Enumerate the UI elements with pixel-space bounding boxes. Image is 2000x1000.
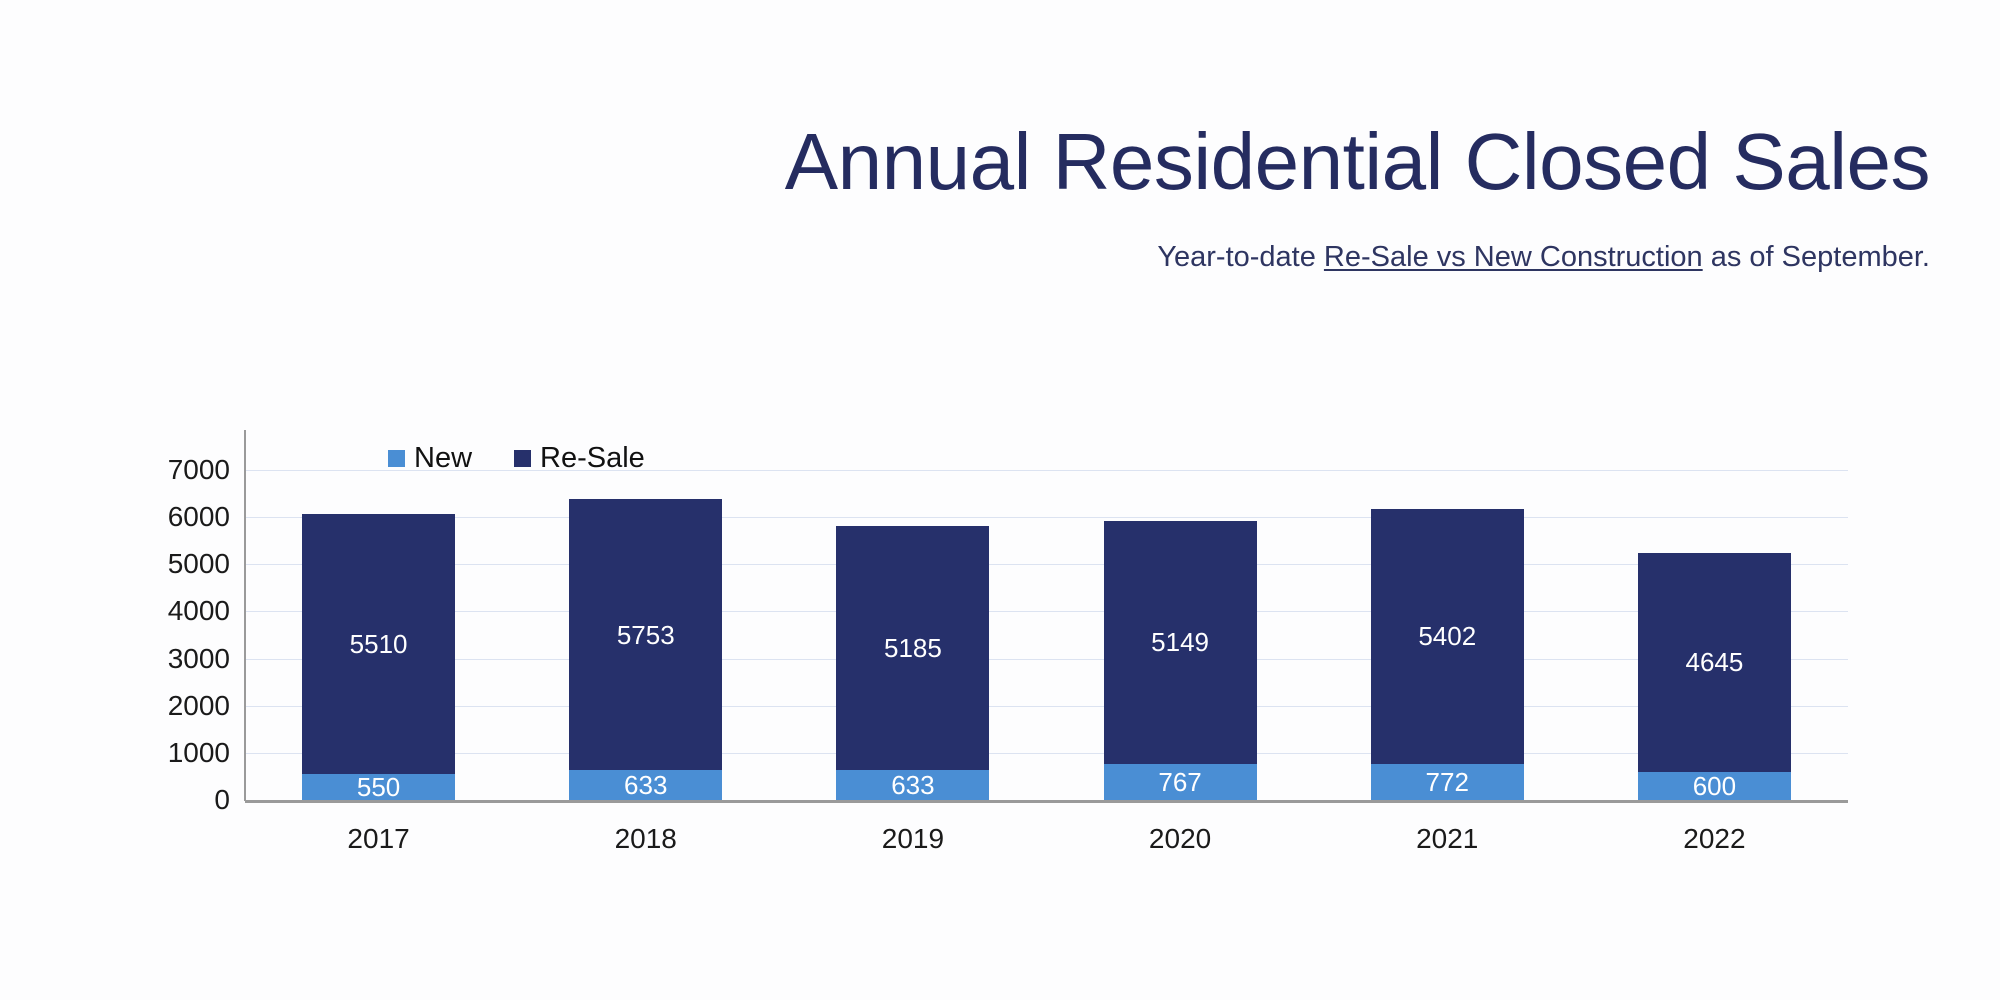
bar-value-label-resale: 5402 xyxy=(1418,623,1476,649)
bar-value-label-resale: 5510 xyxy=(350,631,408,657)
bar-stack[interactable]: 5510550 xyxy=(302,514,455,800)
legend-swatch-icon xyxy=(388,450,405,467)
chart-legend: NewRe-Sale xyxy=(388,444,645,473)
bar-stack[interactable]: 5149767 xyxy=(1104,521,1257,800)
x-axis-tick-label: 2022 xyxy=(1581,825,1848,853)
bar-value-label-resale: 4645 xyxy=(1685,649,1743,675)
legend-swatch-icon xyxy=(514,450,531,467)
legend-item-new[interactable]: New xyxy=(388,444,472,473)
bar-segment-resale[interactable]: 5753 xyxy=(569,499,722,770)
legend-item-re-sale[interactable]: Re-Sale xyxy=(514,444,645,473)
bar-value-label-resale: 5185 xyxy=(884,635,942,661)
bar-segment-resale[interactable]: 5510 xyxy=(302,514,455,774)
bar-value-label-resale: 5753 xyxy=(617,622,675,648)
bar-value-label-new: 633 xyxy=(891,772,934,798)
x-axis-tick-label: 2018 xyxy=(512,825,779,853)
bar-segment-new[interactable]: 767 xyxy=(1104,764,1257,800)
bar-series-container: 5510550201757536332018518563320195149767… xyxy=(0,0,2000,1000)
bar-segment-resale[interactable]: 5149 xyxy=(1104,521,1257,764)
bar-stack[interactable]: 5753633 xyxy=(569,499,722,800)
bar-value-label-resale: 5149 xyxy=(1151,629,1209,655)
bar-stack[interactable]: 4645600 xyxy=(1638,553,1791,800)
bar-stack[interactable]: 5185633 xyxy=(836,526,989,800)
stacked-bar-chart: 70006000500040003000200010000 5510550201… xyxy=(0,0,2000,1000)
x-axis-tick-label: 2017 xyxy=(245,825,512,853)
bar-segment-new[interactable]: 600 xyxy=(1638,772,1791,800)
legend-label: Re-Sale xyxy=(540,444,645,473)
bar-stack[interactable]: 5402772 xyxy=(1371,509,1524,800)
x-axis-tick-label: 2019 xyxy=(779,825,1046,853)
bar-segment-new[interactable]: 772 xyxy=(1371,764,1524,800)
bar-segment-resale[interactable]: 4645 xyxy=(1638,553,1791,772)
x-axis-tick-label: 2020 xyxy=(1047,825,1314,853)
bar-value-label-new: 600 xyxy=(1693,773,1736,799)
bar-value-label-new: 550 xyxy=(357,774,400,800)
bar-segment-new[interactable]: 633 xyxy=(569,770,722,800)
bar-segment-resale[interactable]: 5402 xyxy=(1371,509,1524,764)
bar-segment-new[interactable]: 550 xyxy=(302,774,455,800)
bar-segment-resale[interactable]: 5185 xyxy=(836,526,989,770)
legend-label: New xyxy=(414,444,472,473)
bar-value-label-new: 633 xyxy=(624,772,667,798)
bar-value-label-new: 767 xyxy=(1158,769,1201,795)
x-axis-tick-label: 2021 xyxy=(1314,825,1581,853)
bar-segment-new[interactable]: 633 xyxy=(836,770,989,800)
bar-value-label-new: 772 xyxy=(1426,769,1469,795)
